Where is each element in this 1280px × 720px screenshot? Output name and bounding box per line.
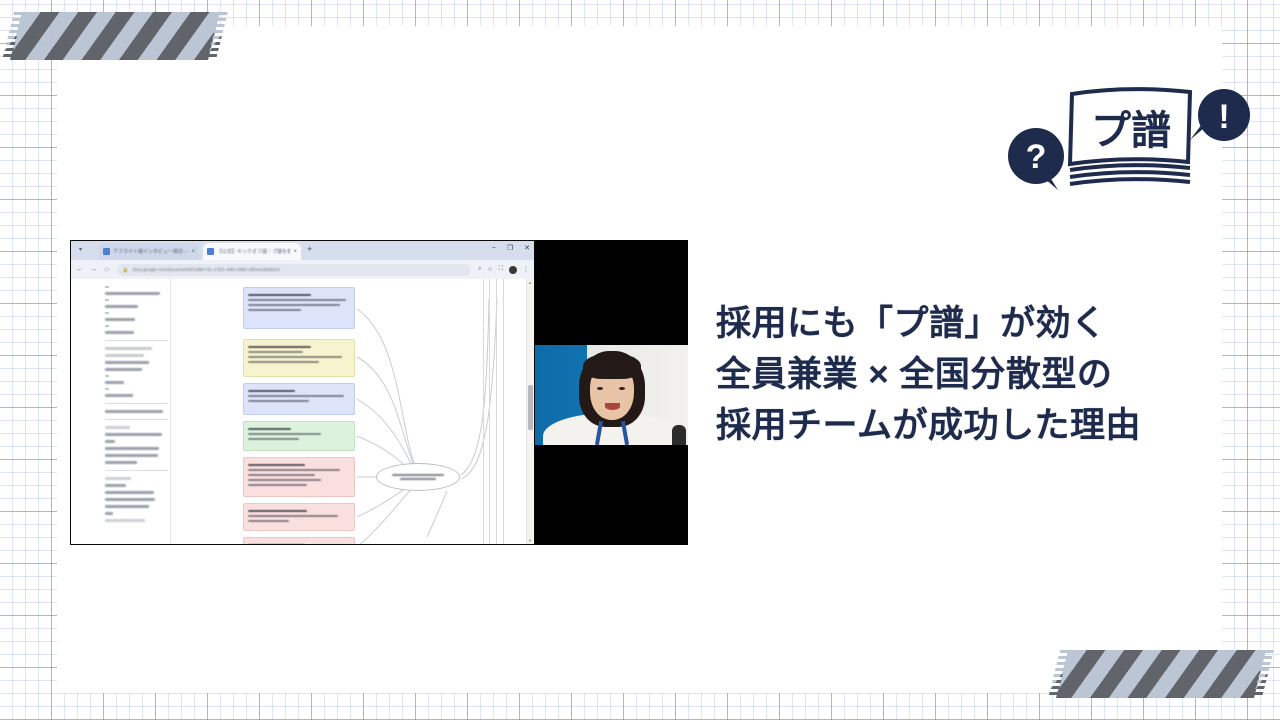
outline-tick (105, 325, 109, 327)
tab-title: アフライト様インタビュー用日 - Goo (113, 248, 188, 255)
node-text-line (248, 438, 299, 440)
outline-line (105, 505, 149, 508)
canvas-guide-line (496, 279, 497, 544)
outline-line (105, 381, 124, 384)
node-text-line (248, 515, 338, 517)
canvas-node[interactable] (243, 339, 355, 377)
address-bar-url: docs.google.com/document/d/1NBKY3L-17D1-… (132, 267, 279, 272)
washi-tape-bottom-right (1056, 650, 1266, 698)
node-text-line (248, 510, 307, 512)
outline-tick (105, 286, 109, 288)
outline-line (105, 498, 155, 501)
outline-line (105, 331, 134, 334)
browser-menu-icon[interactable]: ⋮ (523, 266, 529, 273)
tab-title: 【公式】キックオフ譜｜プ譜を書くとは (217, 248, 290, 255)
outline-line (105, 447, 159, 450)
bookmark-star-icon[interactable]: ☆ (487, 266, 492, 273)
outline-line (105, 368, 142, 371)
outline-line (105, 491, 154, 494)
outline-line (105, 484, 126, 487)
participant-eye-left (597, 387, 603, 390)
outline-line (105, 354, 144, 357)
browser-tab-2[interactable]: 【公式】キックオフ譜｜プ譜を書くとは × (203, 243, 301, 260)
page-viewport: ▲ ▼ (71, 279, 534, 544)
outline-line (105, 512, 113, 515)
window-controls: − ❐ ✕ (492, 244, 530, 252)
canvas-center-node[interactable] (376, 463, 460, 491)
node-text-line (248, 464, 305, 466)
profile-avatar[interactable] (509, 266, 517, 274)
node-text-line (248, 520, 289, 522)
outline-line (105, 461, 137, 464)
browser-window: ▾ アフライト様インタビュー用日 - Goo × 【公式】キックオフ譜｜プ譜を書… (70, 240, 535, 545)
scroll-down-arrow[interactable]: ▼ (528, 538, 532, 543)
outline-line (105, 305, 138, 308)
back-icon[interactable]: ← (76, 266, 83, 273)
node-text-line (392, 474, 444, 476)
tab-favicon-icon (103, 248, 110, 255)
new-tab-button[interactable]: + (307, 245, 312, 254)
participant-mouth (605, 403, 620, 410)
title-line-1: 採用にも「プ譜」が効く (716, 298, 1216, 349)
node-text-line (248, 395, 344, 397)
title-line-3: 採用チームが成功した理由 (716, 400, 1216, 451)
canvas-guide-line (503, 279, 504, 544)
outline-line (105, 426, 130, 429)
scroll-up-arrow[interactable]: ▲ (528, 280, 532, 285)
outline-line (105, 292, 160, 295)
reload-icon[interactable]: ⟳ (104, 266, 110, 274)
outline-tick (105, 388, 109, 390)
logo-wordmark: プ譜 (1091, 109, 1171, 153)
question-bubble-icon: ? (1008, 128, 1064, 190)
outline-line (105, 440, 115, 443)
outline-line (105, 454, 158, 457)
outline-divider (105, 419, 168, 420)
browser-toolbar: ← → ⟳ 🔒 docs.google.com/document/d/1NBKY… (71, 260, 534, 279)
pufu-logo: ? ! プ譜 (1000, 78, 1258, 193)
page-scrollbar[interactable]: ▲ ▼ (526, 279, 534, 544)
search-icon[interactable]: ⌕ (478, 266, 481, 273)
outline-line (105, 433, 162, 436)
node-text-line (248, 351, 303, 353)
participant-eye-right (619, 387, 625, 390)
canvas-node[interactable] (243, 503, 355, 531)
svg-text:?: ? (1026, 138, 1047, 176)
minimize-button[interactable]: − (492, 245, 496, 252)
node-text-line (248, 356, 342, 358)
microphone (672, 425, 686, 445)
extensions-icon[interactable]: ⛶ (499, 266, 503, 273)
canvas-node[interactable] (243, 457, 355, 497)
scrollbar-thumb[interactable] (528, 385, 533, 430)
outline-divider (105, 403, 168, 404)
outline-divider (105, 340, 168, 341)
outline-tick (105, 299, 109, 301)
canvas-node[interactable] (243, 537, 355, 544)
canvas-node[interactable] (243, 287, 355, 329)
canvas-node[interactable] (243, 421, 355, 451)
close-window-button[interactable]: ✕ (524, 244, 530, 252)
outline-line (105, 318, 135, 321)
outline-line (105, 361, 149, 364)
exclamation-bubble-icon: ! (1190, 89, 1250, 141)
outline-divider (105, 470, 168, 471)
node-text-line (248, 299, 346, 301)
participant-fringe (583, 353, 641, 379)
node-text-line (248, 433, 321, 435)
node-text-line (248, 294, 311, 296)
node-text-line (248, 469, 340, 471)
node-text-line (248, 304, 340, 306)
node-text-line (248, 361, 319, 363)
participant-webcam (535, 345, 688, 445)
title-line-2: 全員兼業 × 全国分散型の (716, 349, 1216, 400)
address-bar[interactable]: 🔒 docs.google.com/document/d/1NBKY3L-17D… (117, 264, 471, 276)
outline-tick (105, 375, 109, 377)
node-text-line (248, 309, 301, 311)
outline-line (105, 394, 133, 397)
canvas-node[interactable] (243, 383, 355, 415)
outline-line (105, 477, 131, 480)
slide-title: 採用にも「プ譜」が効く 全員兼業 × 全国分散型の 採用チームが成功した理由 (716, 298, 1216, 451)
tab-close-icon[interactable]: × (191, 249, 195, 255)
node-text-line (248, 479, 321, 481)
svg-text:!: ! (1218, 98, 1229, 136)
washi-tape-top-left (10, 12, 220, 60)
canvas-guide-line (483, 279, 484, 544)
outline-line (105, 519, 145, 522)
node-text-line (248, 400, 309, 402)
canvas-guide-line (489, 279, 490, 544)
node-text-line (248, 346, 311, 348)
document-outline-sidebar[interactable] (103, 279, 171, 544)
node-text-line (248, 474, 315, 476)
maximize-button[interactable]: ❐ (507, 244, 513, 252)
document-canvas[interactable] (171, 279, 522, 544)
site-info-icon: 🔒 (123, 267, 129, 273)
node-text-line (400, 478, 436, 480)
slide-canvas: ? ! プ譜 (0, 0, 1280, 720)
outline-tick (105, 312, 109, 314)
browser-tabstrip: ▾ アフライト様インタビュー用日 - Goo × 【公式】キックオフ譜｜プ譜を書… (71, 241, 534, 260)
forward-icon[interactable]: → (90, 266, 97, 273)
outline-line (105, 347, 152, 350)
tab-favicon-icon (207, 248, 214, 255)
tab-search-icon[interactable]: ▾ (79, 246, 82, 253)
outline-line (105, 410, 163, 413)
browser-tab-1[interactable]: アフライト様インタビュー用日 - Goo × (99, 243, 199, 260)
node-text-line (248, 484, 307, 486)
node-text-line (248, 390, 295, 392)
tab-close-icon[interactable]: × (293, 249, 297, 255)
node-text-line (248, 428, 291, 430)
toolbar-actions: ⌕ ☆ ⛶ ⋮ (478, 266, 529, 274)
